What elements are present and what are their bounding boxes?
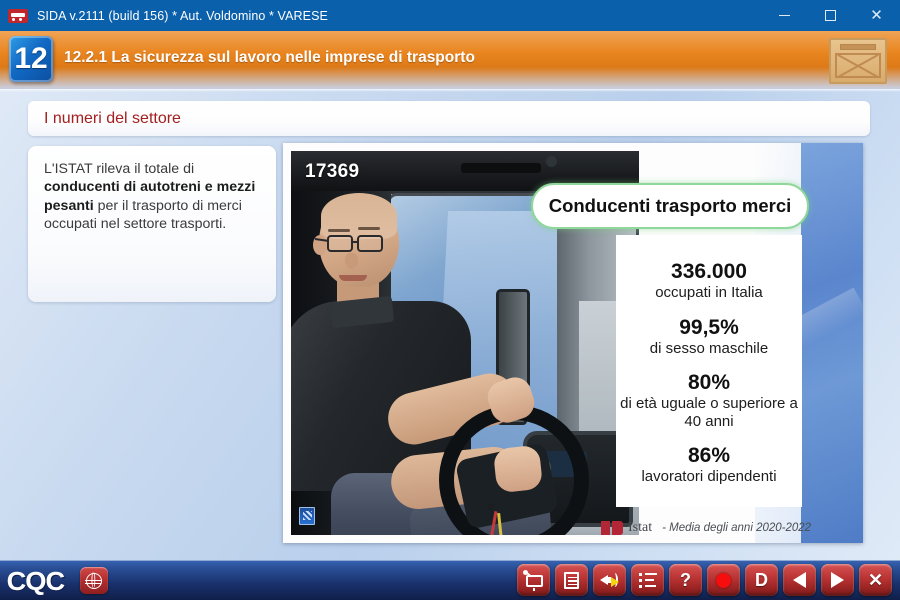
bottom-toolbar: CQC bbox=[0, 560, 900, 600]
stat-item: 80% di età uguale o superiore a 40 anni bbox=[616, 371, 802, 430]
exit-button[interactable]: ✕ bbox=[859, 564, 892, 596]
present-screen-button[interactable] bbox=[517, 564, 550, 596]
page-title: 12.2.1 La sicurezza sul lavoro nelle imp… bbox=[64, 49, 475, 67]
window-title: SIDA v.2111 (build 156) * Aut. Voldomino… bbox=[37, 9, 328, 23]
audio-button[interactable] bbox=[593, 564, 626, 596]
stat-value: 80% bbox=[616, 371, 802, 395]
stat-item: 99,5% di sesso maschile bbox=[650, 316, 768, 358]
triangle-left-icon bbox=[793, 572, 806, 588]
stat-value: 86% bbox=[641, 444, 776, 468]
truck-icon bbox=[8, 9, 28, 23]
description-card: L'ISTAT rileva il totale di conducenti d… bbox=[28, 146, 276, 302]
minimize-button[interactable] bbox=[761, 0, 807, 31]
stat-description: di sesso maschile bbox=[650, 340, 768, 357]
cqc-logo: CQC bbox=[7, 566, 65, 597]
document-icon bbox=[564, 572, 579, 589]
close-icon: ✕ bbox=[870, 8, 883, 23]
close-window-button[interactable]: ✕ bbox=[853, 0, 900, 31]
letter-d-icon: D bbox=[755, 571, 768, 589]
source-note: - Media degli anni 2020-2022 bbox=[662, 522, 811, 534]
crate-icon bbox=[829, 38, 887, 84]
statistics-list: 336.000 occupati in Italia 99,5% di sess… bbox=[616, 235, 802, 507]
callout-text: Conducenti trasporto merci bbox=[549, 195, 792, 217]
photo-watermark-icon bbox=[299, 507, 315, 525]
stat-value: 99,5% bbox=[650, 316, 768, 340]
section-header: I numeri del settore bbox=[28, 101, 870, 136]
record-button[interactable] bbox=[707, 564, 740, 596]
stat-description: di età uguale o superiore a 40 anni bbox=[616, 395, 802, 430]
help-button[interactable]: ? bbox=[669, 564, 702, 596]
description-text: L'ISTAT rileva il totale di conducenti d… bbox=[44, 160, 260, 234]
maximize-button[interactable] bbox=[807, 0, 853, 31]
x-icon: ✕ bbox=[868, 571, 883, 589]
window-controls: ✕ bbox=[761, 0, 900, 31]
globe-button[interactable] bbox=[80, 567, 108, 594]
triangle-right-icon bbox=[831, 572, 844, 588]
stat-item: 86% lavoratori dipendenti bbox=[641, 444, 776, 486]
callout-title: Conducenti trasporto merci bbox=[531, 183, 809, 229]
section-title: I numeri del settore bbox=[44, 110, 181, 128]
previous-button[interactable] bbox=[783, 564, 816, 596]
application-window: SIDA v.2111 (build 156) * Aut. Voldomino… bbox=[0, 0, 900, 600]
monitor-icon bbox=[524, 571, 544, 589]
d-button[interactable]: D bbox=[745, 564, 778, 596]
title-bar: SIDA v.2111 (build 156) * Aut. Voldomino… bbox=[0, 0, 900, 31]
istat-label: Istat bbox=[628, 520, 652, 536]
question-icon: ? bbox=[680, 571, 691, 589]
stat-item: 336.000 occupati in Italia bbox=[655, 260, 763, 302]
stat-value: 336.000 bbox=[655, 260, 763, 284]
description-part1: L'ISTAT rileva il totale di bbox=[44, 161, 194, 177]
stat-description: occupati in Italia bbox=[655, 284, 763, 301]
list-button[interactable] bbox=[631, 564, 664, 596]
slide-panel: 17369 Conducenti trasporto merci 336.000… bbox=[283, 143, 863, 543]
photo-number: 17369 bbox=[305, 161, 359, 183]
globe-icon bbox=[86, 573, 102, 589]
source-line: Istat - Media degli anni 2020-2022 bbox=[601, 518, 813, 538]
document-button[interactable] bbox=[555, 564, 588, 596]
slide-decorative-band bbox=[801, 143, 863, 543]
chapter-badge: 12 bbox=[9, 36, 53, 82]
record-dot-icon bbox=[716, 573, 731, 588]
speaker-icon bbox=[600, 572, 620, 588]
list-icon bbox=[639, 573, 657, 588]
next-button[interactable] bbox=[821, 564, 854, 596]
toolbar-buttons: ? D ✕ bbox=[517, 564, 892, 596]
maximize-icon bbox=[825, 10, 836, 21]
minimize-icon bbox=[779, 15, 790, 16]
istat-logo-icon bbox=[601, 521, 623, 535]
stat-description: lavoratori dipendenti bbox=[641, 468, 776, 485]
lesson-header: 12 12.2.1 La sicurezza sul lavoro nelle … bbox=[0, 31, 900, 89]
